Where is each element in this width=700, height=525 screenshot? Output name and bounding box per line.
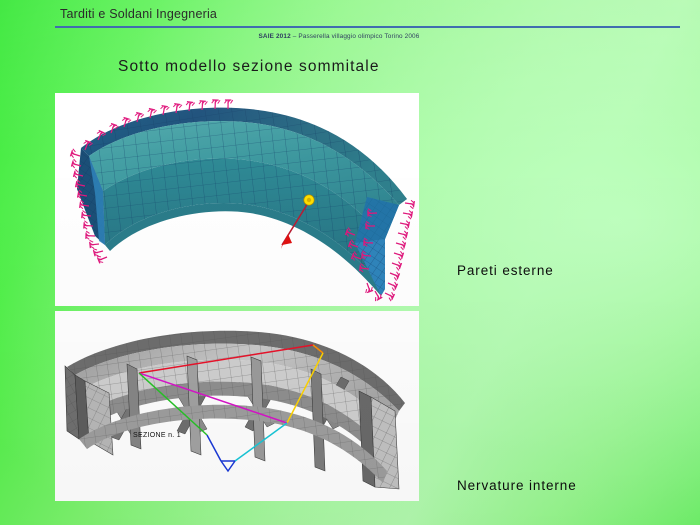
fem-shell-mesh-drawing	[55, 93, 419, 306]
header-event-subtitle: SAIE 2012 – Passerella villaggio olimpic…	[0, 33, 700, 40]
slide-canvas: Tarditi e Soldani Ingegneria SAIE 2012 –…	[0, 0, 700, 525]
figure-fem-shell-mesh	[55, 93, 419, 306]
sezione-caption: SEZIONE n. 1	[133, 432, 181, 439]
header-event-name: SAIE 2012	[259, 33, 291, 40]
figure-fem-rib-mesh	[55, 311, 419, 501]
page-title: Sotto modello sezione sommitale	[118, 58, 380, 76]
label-pareti-esterne: Pareti esterne	[457, 263, 554, 278]
label-nervature-interne: Nervature interne	[457, 478, 577, 493]
header-divider-rule	[55, 26, 680, 28]
header-company-name: Tarditi e Soldani Ingegneria	[60, 7, 217, 21]
section-cut-pointer	[221, 461, 235, 471]
fem-rib-mesh-drawing	[55, 311, 419, 501]
header-event-description: – Passerella villaggio olimpico Torino 2…	[291, 33, 420, 40]
load-node-highlight	[304, 195, 314, 205]
